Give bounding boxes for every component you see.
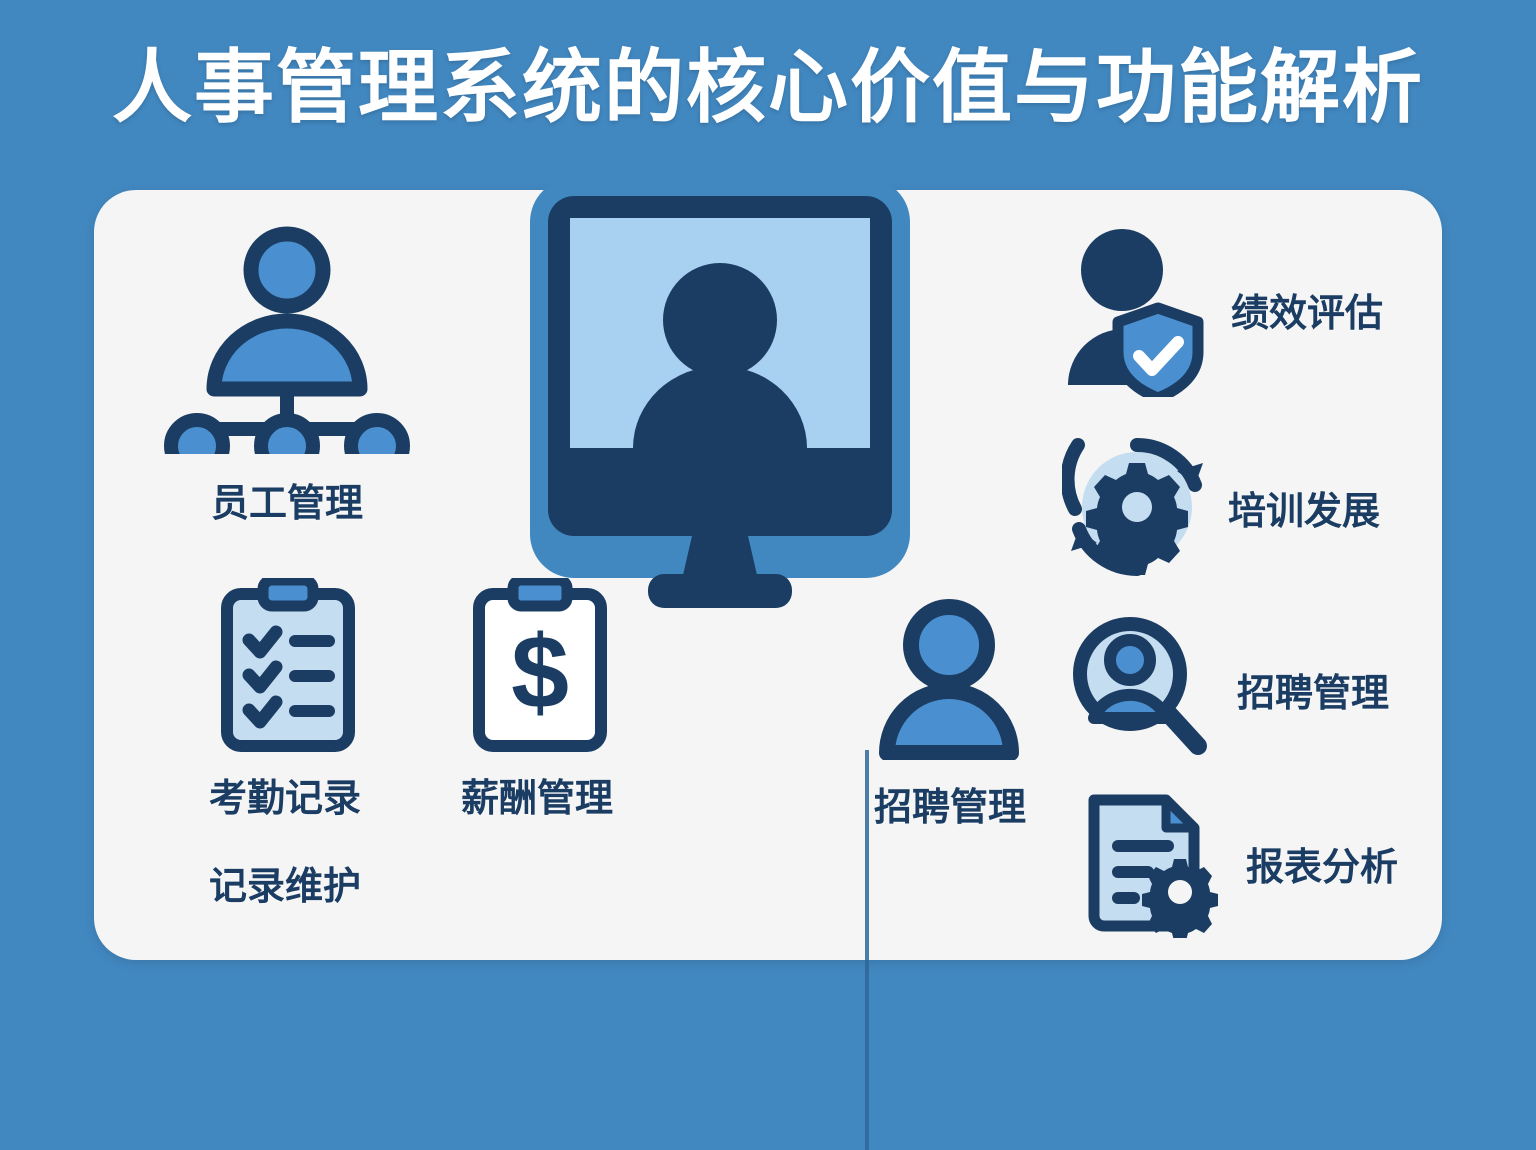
central-monitor-graphic [520, 170, 920, 610]
feature-recruitment-management[interactable]: 招聘管理 [1066, 612, 1389, 767]
feature-label: 绩效评估 [1231, 282, 1383, 337]
feature-training-development[interactable]: 培训发展 [1062, 432, 1380, 582]
magnifier-person-icon [1066, 612, 1221, 767]
feature-performance-evaluation[interactable]: 绩效评估 [1050, 222, 1383, 397]
feature-label: 考勤记录 [160, 767, 410, 822]
feature-label: 报表分析 [1246, 836, 1398, 891]
feature-label: 培训发展 [1228, 480, 1380, 535]
feature-payroll-management[interactable]: $ 薪酬管理 [412, 578, 662, 822]
feature-attendance-record[interactable]: 考勤记录 [160, 578, 410, 822]
monitor-person-icon [520, 170, 920, 610]
svg-text:$: $ [511, 615, 569, 731]
feature-label: 记录维护 [160, 855, 410, 910]
clipboard-check-icon [160, 578, 410, 753]
feature-record-maintenance[interactable]: 记录维护 [160, 855, 410, 910]
user-shield-check-icon [1050, 222, 1215, 397]
feature-label: 薪酬管理 [412, 767, 662, 822]
document-gear-icon [1080, 788, 1230, 938]
feature-employee-management[interactable]: 员工管理 [152, 224, 422, 527]
feature-report-analysis[interactable]: 报表分析 [1080, 788, 1398, 938]
gear-refresh-icon [1062, 432, 1212, 582]
user-icon [820, 595, 1080, 760]
page-title: 人事管理系统的核心价值与功能解析 [0, 44, 1536, 132]
feature-recruitment-center[interactable]: 招聘管理 [820, 595, 1080, 831]
feature-label: 员工管理 [152, 472, 422, 527]
org-chart-icon [152, 224, 422, 454]
feature-label: 招聘管理 [820, 776, 1080, 831]
feature-label: 招聘管理 [1237, 662, 1389, 717]
